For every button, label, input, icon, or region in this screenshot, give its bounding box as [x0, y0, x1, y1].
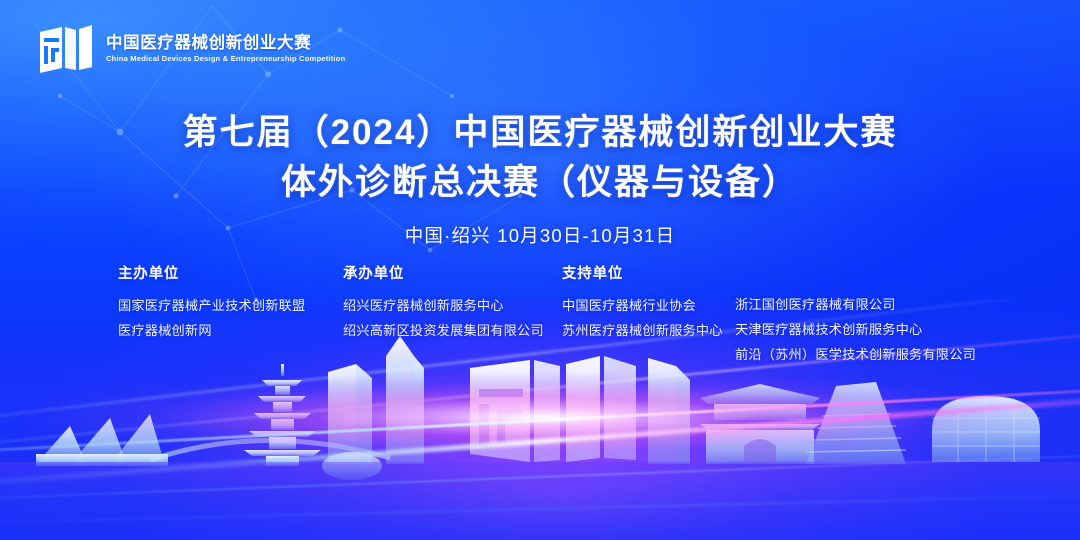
organizer-heading: 主办单位	[118, 262, 305, 283]
brand-name-en: China Medical Devices Design & Entrepren…	[106, 55, 345, 63]
brand-text: 中国医疗器械创新创业大赛 China Medical Devices Desig…	[106, 35, 345, 64]
organizer-item: 浙江国创医疗器械有限公司	[735, 292, 976, 317]
brand-lockup: 中国医疗器械创新创业大赛 China Medical Devices Desig…	[38, 24, 345, 76]
organizer-item: 绍兴医疗器械创新服务中心	[343, 293, 544, 318]
title-line-1: 第七届（2024）中国医疗器械创新创业大赛	[0, 108, 1080, 158]
title-line-2: 体外诊断总决赛（仪器与设备）	[0, 158, 1080, 208]
organizer-item: 天津医疗器械技术创新服务中心	[735, 317, 976, 342]
organizer-item: 绍兴高新区投资发展集团有限公司	[343, 318, 544, 343]
foreground-ground	[0, 462, 1080, 540]
organizer-column-supporter-extra: 浙江国创医疗器械有限公司 天津医疗器械技术创新服务中心 前沿（苏州）医学技术创新…	[735, 292, 976, 367]
brand-name-cn: 中国医疗器械创新创业大赛	[106, 35, 345, 52]
title-block: 第七届（2024）中国医疗器械创新创业大赛 体外诊断总决赛（仪器与设备） 中国·…	[0, 108, 1080, 248]
organizers-block: 主办单位 国家医疗器械产业技术创新联盟 医疗器械创新网 承办单位 绍兴医疗器械创…	[0, 262, 1080, 362]
organizer-item: 中国医疗器械行业协会	[562, 293, 723, 318]
organizer-column-host: 主办单位 国家医疗器械产业技术创新联盟 医疗器械创新网	[118, 262, 305, 343]
organizer-column-supporter: 支持单位 中国医疗器械行业协会 苏州医疗器械创新服务中心	[562, 262, 723, 343]
event-poster: 中国医疗器械创新创业大赛 China Medical Devices Desig…	[0, 0, 1080, 540]
horizon-glow	[0, 360, 1080, 470]
location-date: 中国·绍兴 10月30日-10月31日	[0, 222, 1080, 248]
organizer-item: 国家医疗器械产业技术创新联盟	[118, 293, 305, 318]
organizer-heading: 承办单位	[343, 262, 544, 283]
organizer-item: 前沿（苏州）医学技术创新服务有限公司	[735, 342, 976, 367]
organizer-item: 医疗器械创新网	[118, 318, 305, 343]
organizer-column-coorganizer: 承办单位 绍兴医疗器械创新服务中心 绍兴高新区投资发展集团有限公司	[343, 262, 544, 343]
organizer-item: 苏州医疗器械创新服务中心	[562, 318, 723, 343]
organizer-heading: 支持单位	[562, 262, 723, 283]
open-book-door-logo-icon	[38, 24, 94, 76]
